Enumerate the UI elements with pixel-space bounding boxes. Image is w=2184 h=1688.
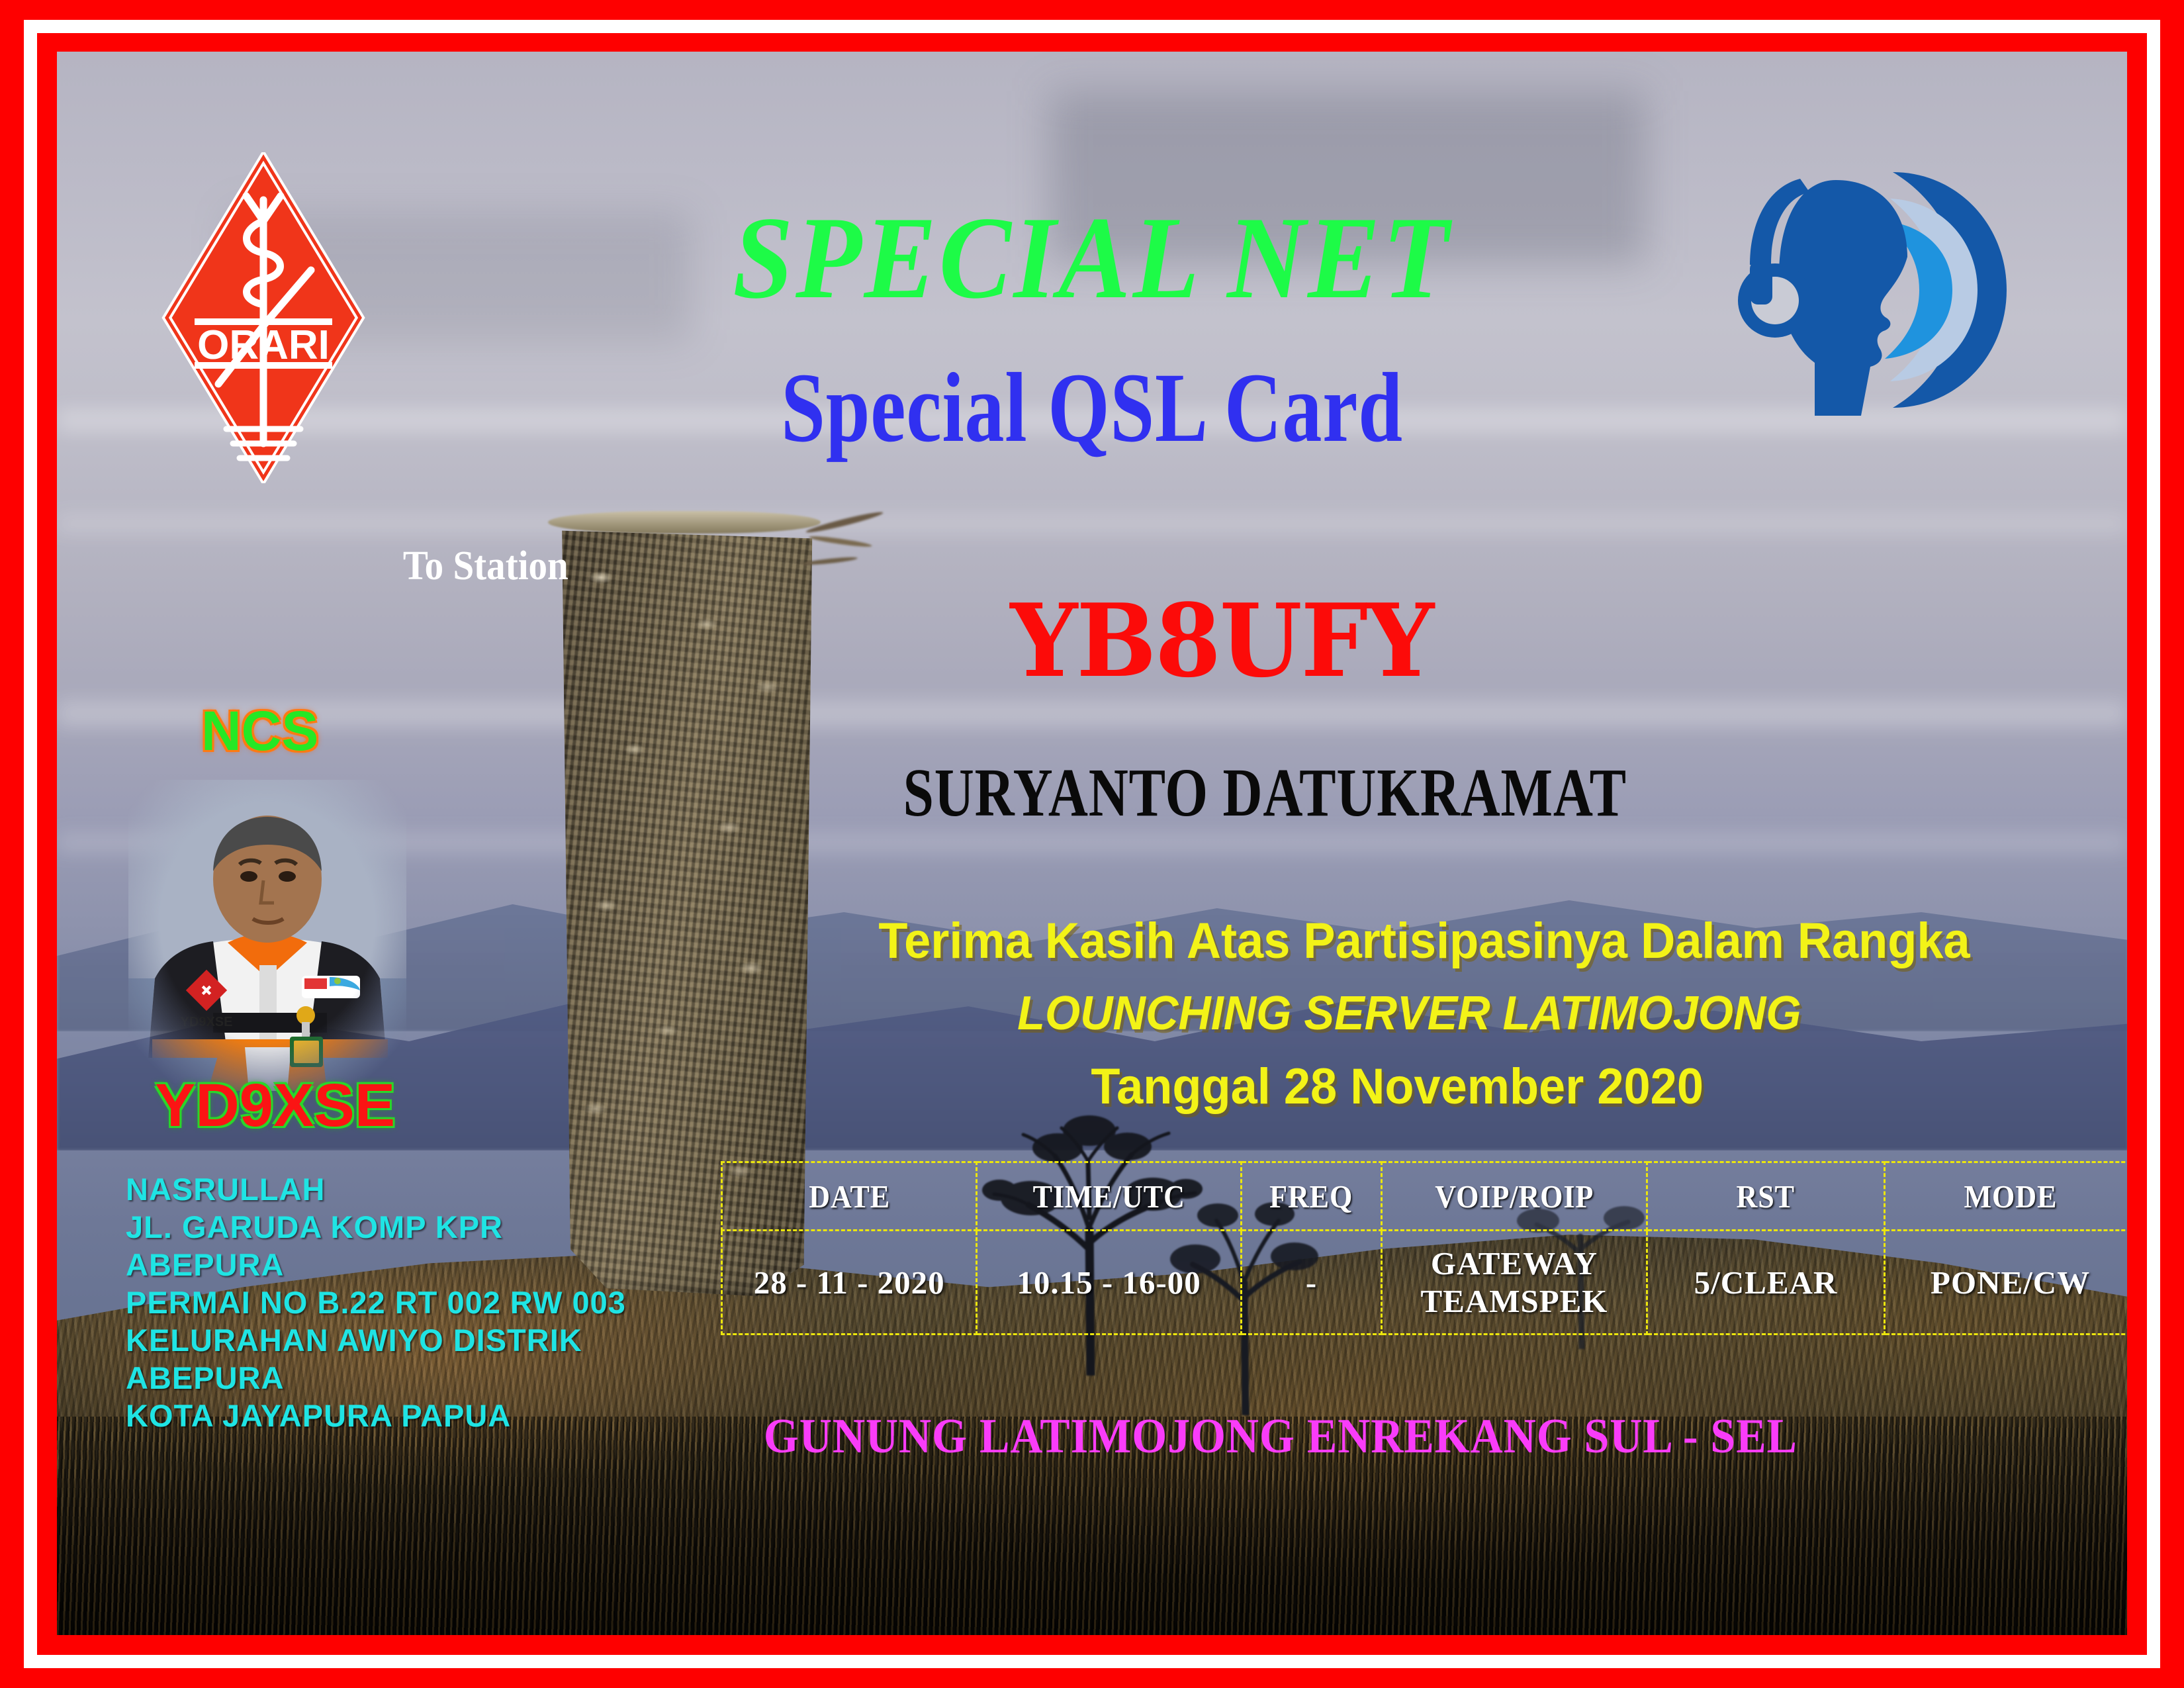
qso-table: DATE TIME/UTC FREQ VOIP/ROIP RST MODE 28…: [721, 1161, 2127, 1335]
ncs-portrait-photo: ✚ YD9XSE: [128, 780, 406, 1091]
location-line: GUNUNG LATIMOJONG ENREKANG SUL - SEL: [764, 1409, 1797, 1465]
table-header-voip-roip: VOIP/ROIP: [1395, 1162, 1633, 1231]
address-line: NASRULLAH: [126, 1170, 626, 1208]
table-header-mode: MODE: [1897, 1162, 2124, 1231]
address-line: KELURAHAN AWIYO DISTRIK: [126, 1321, 626, 1359]
page-title: SPECIAL NET: [140, 189, 2044, 326]
sender-address-block: NASRULLAH JL. GARUDA KOMP KPR ABEPURA PE…: [126, 1170, 626, 1434]
page-subtitle: Special QSL Card: [264, 351, 1920, 465]
table-row: 28 - 11 - 2020 10.15 - 16-00 - GATEWAY T…: [722, 1231, 2128, 1335]
address-line: KOTA JAYAPURA PAPUA: [126, 1397, 626, 1434]
to-station-label: To Station: [403, 543, 569, 590]
cell-voip-roip-line2: TEAMSPEK: [1383, 1282, 1645, 1320]
cell-date: 28 - 11 - 2020: [722, 1231, 977, 1335]
cloud-streak: [57, 515, 2127, 532]
thanks-line-3: Tanggal 28 November 2020: [1091, 1058, 1704, 1115]
address-line: ABEPURA: [126, 1359, 626, 1397]
address-line: PERMAI NO B.22 RT 002 RW 003: [126, 1284, 626, 1321]
cell-time: 10.15 - 16-00: [977, 1231, 1242, 1335]
table-header-rst: RST: [1659, 1162, 1873, 1231]
thanks-line-2: LOUNCHING SERVER LATIMOJONG: [1017, 986, 1801, 1041]
cell-voip-roip: GATEWAY TEAMSPEK: [1382, 1231, 1647, 1335]
cell-rst: 5/CLEAR: [1647, 1231, 1885, 1335]
ncs-callsign: YD9XSE: [155, 1071, 395, 1141]
cell-mode: PONE/CW: [1885, 1231, 2127, 1335]
address-line: ABEPURA: [126, 1246, 626, 1284]
address-line: JL. GARUDA KOMP KPR: [126, 1208, 626, 1246]
cloud-streak: [57, 700, 2127, 727]
station-callsign: YB8UFY: [1010, 581, 1433, 700]
cell-voip-roip-line1: GATEWAY: [1383, 1244, 1645, 1282]
card-photo-area: ORARI SPECIAL NET Special QSL Card To St…: [57, 52, 2127, 1635]
cairn-cap: [548, 511, 821, 534]
table-header-time: TIME/UTC: [990, 1162, 1228, 1231]
operator-name: SURYANTO DATUKRAMAT: [903, 753, 1627, 832]
table-header-date: DATE: [735, 1162, 964, 1231]
cell-freq: -: [1241, 1231, 1381, 1335]
ncs-label: NCS: [201, 699, 318, 763]
thanks-line-1: Terima Kasih Atas Partisipasinya Dalam R…: [878, 912, 1970, 970]
qsl-card: ORARI SPECIAL NET Special QSL Card To St…: [0, 0, 2184, 1688]
table-header-row: DATE TIME/UTC FREQ VOIP/ROIP RST MODE: [722, 1162, 2128, 1231]
table-header-freq: FREQ: [1248, 1162, 1375, 1231]
uniform-patch-text: YD9XSE: [181, 1015, 233, 1029]
